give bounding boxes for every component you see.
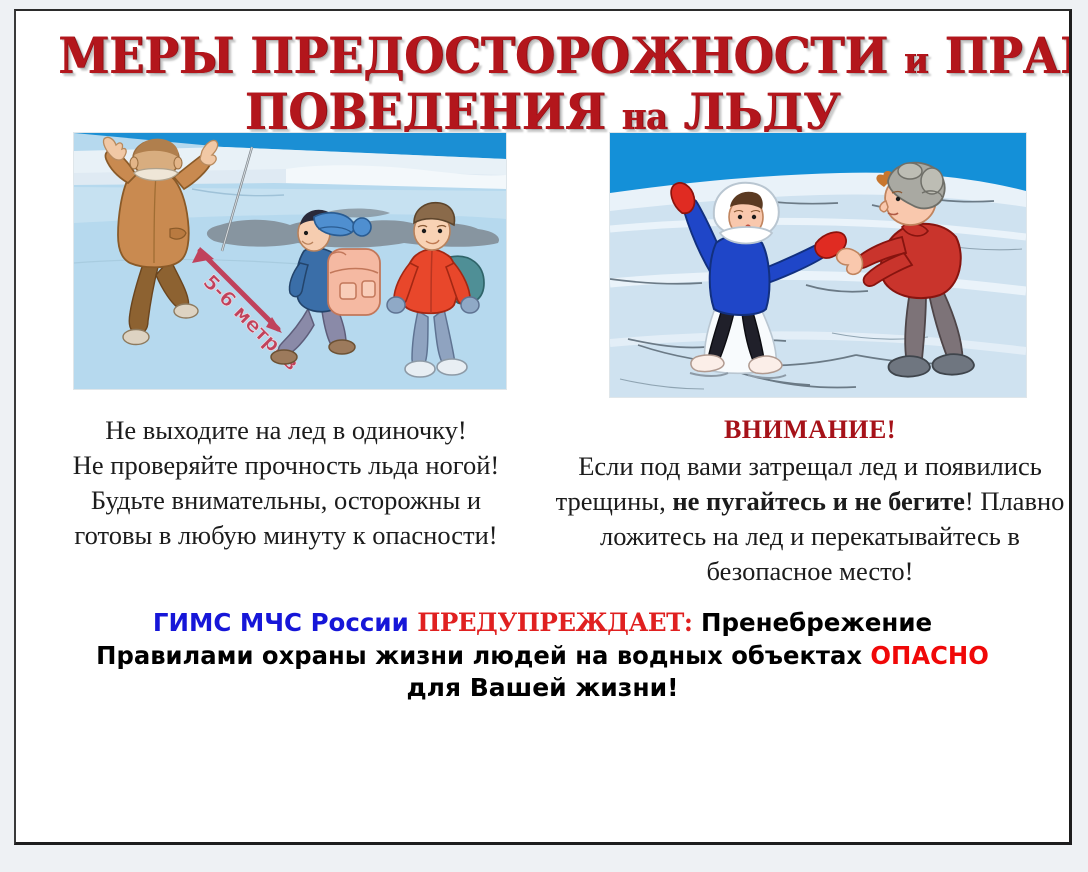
title-line-1-part-a: МЕРЫ ПРЕДОСТОРОЖНОСТИ (58, 26, 888, 85)
footer-line-2: Правилами охраны жизни людей на водных о… (32, 640, 1053, 673)
title-line-2-preposition: на (622, 96, 668, 138)
warns-word: ПРЕДУПРЕЖДАЕТ: (417, 608, 692, 637)
caption-row: Не выходите на лед в одиночку! Не провер… (16, 405, 1069, 605)
footer-warning: ГИМС МЧС России ПРЕДУПРЕЖДАЕТ: Пренебреж… (16, 607, 1069, 705)
footer-line-1-tail: Пренебрежение (701, 608, 932, 637)
title-line-1-conjunction: и (904, 40, 929, 82)
title-line-1: МЕРЫ ПРЕДОСТОРОЖНОСТИ и ПРАВИЛА (58, 31, 1027, 81)
title-line-1-part-b: ПРАВИЛА (944, 26, 1072, 85)
danger-word: ОПАСНО (870, 641, 988, 670)
title-line-2: ПОВЕДЕНИЯ на ЛЬДУ (58, 87, 1027, 137)
footer-line-2-text: Правилами охраны жизни людей на водных о… (96, 641, 870, 670)
caption-left-line-2: Не проверяйте прочность льда ногой! (26, 448, 546, 483)
footer-line-1: ГИМС МЧС России ПРЕДУПРЕЖДАЕТ: Пренебреж… (27, 607, 1059, 640)
footer-line-3: для Вашей жизни! (16, 672, 1069, 705)
illustration-left-adult-with-pole-and-children: 5-6 метров (74, 133, 506, 389)
caption-right-body: Если под вами затрещал лед и появились т… (552, 449, 1068, 589)
attention-heading: ВНИМАНИЕ! (552, 413, 1068, 447)
illustration-right-skater-on-cracking-ice (610, 133, 1026, 397)
caption-left-line-1: Не выходите на лед в одиночку! (26, 413, 546, 448)
caption-right-bold-warning: не пугайтесь и не бегите (672, 486, 965, 516)
caption-left-line-4: готовы в любую минуту к опасности! (26, 518, 546, 553)
caption-right: ВНИМАНИЕ! Если под вами затрещал лед и п… (552, 413, 1068, 589)
agency-name: ГИМС МЧС России (153, 608, 409, 637)
caption-left: Не выходите на лед в одиночку! Не провер… (26, 413, 546, 553)
illustration-row: 5-6 метров (16, 137, 1069, 405)
caption-left-line-3: Будьте внимательны, осторожны и (26, 483, 546, 518)
safety-poster: МЕРЫ ПРЕДОСТОРОЖНОСТИ и ПРАВИЛА ПОВЕДЕНИ… (14, 9, 1072, 845)
page-title: МЕРЫ ПРЕДОСТОРОЖНОСТИ и ПРАВИЛА ПОВЕДЕНИ… (16, 11, 1069, 137)
